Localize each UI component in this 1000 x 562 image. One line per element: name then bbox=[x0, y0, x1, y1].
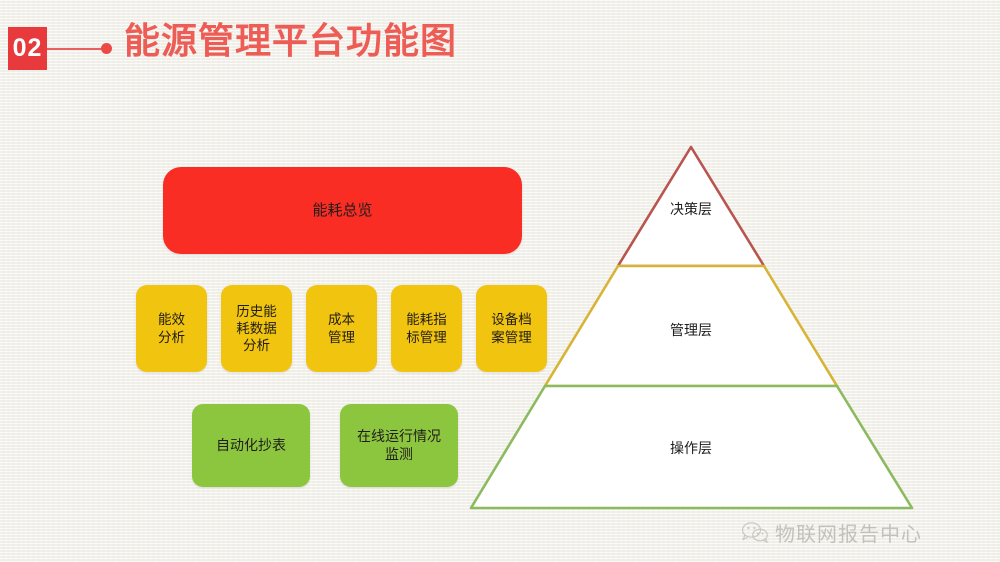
page-title: 能源管理平台功能图 bbox=[124, 19, 457, 63]
card-cost-management[interactable]: 成本管理 bbox=[306, 285, 377, 372]
card-label: 能耗总览 bbox=[312, 201, 372, 220]
card-historical-energy-data-analysis[interactable]: 历史能耗数据分析 bbox=[221, 285, 292, 372]
section-number-badge: 02 bbox=[8, 27, 47, 70]
hierarchy-pyramid: 决策层 管理层 操作层 bbox=[455, 130, 935, 530]
card-label: 能耗指标管理 bbox=[406, 311, 447, 346]
pyramid-label-operation: 操作层 bbox=[670, 438, 712, 458]
card-label: 成本管理 bbox=[328, 311, 355, 346]
wechat-icon bbox=[742, 522, 768, 543]
pyramid-label-decision: 决策层 bbox=[670, 199, 712, 219]
card-automated-meter-reading[interactable]: 自动化抄表 bbox=[192, 404, 310, 487]
card-label: 在线运行情况监测 bbox=[357, 428, 441, 464]
card-energy-indicator-management[interactable]: 能耗指标管理 bbox=[391, 285, 462, 372]
card-label: 历史能耗数据分析 bbox=[236, 303, 277, 355]
slide-canvas: 02 能源管理平台功能图 能耗总览 能效分析 历史能耗数据分析 成本管理 能耗指… bbox=[0, 0, 1000, 562]
header-connector-dot bbox=[101, 43, 112, 54]
pyramid-label-management: 管理层 bbox=[670, 320, 712, 340]
card-label: 能效分析 bbox=[158, 311, 185, 346]
watermark-text: 物联网报告中心 bbox=[775, 518, 922, 547]
card-online-operation-monitoring[interactable]: 在线运行情况监测 bbox=[340, 404, 458, 487]
watermark: 物联网报告中心 bbox=[742, 518, 922, 547]
card-energy-efficiency-analysis[interactable]: 能效分析 bbox=[136, 285, 207, 372]
card-label: 自动化抄表 bbox=[216, 437, 286, 455]
header-connector-line bbox=[47, 48, 104, 50]
